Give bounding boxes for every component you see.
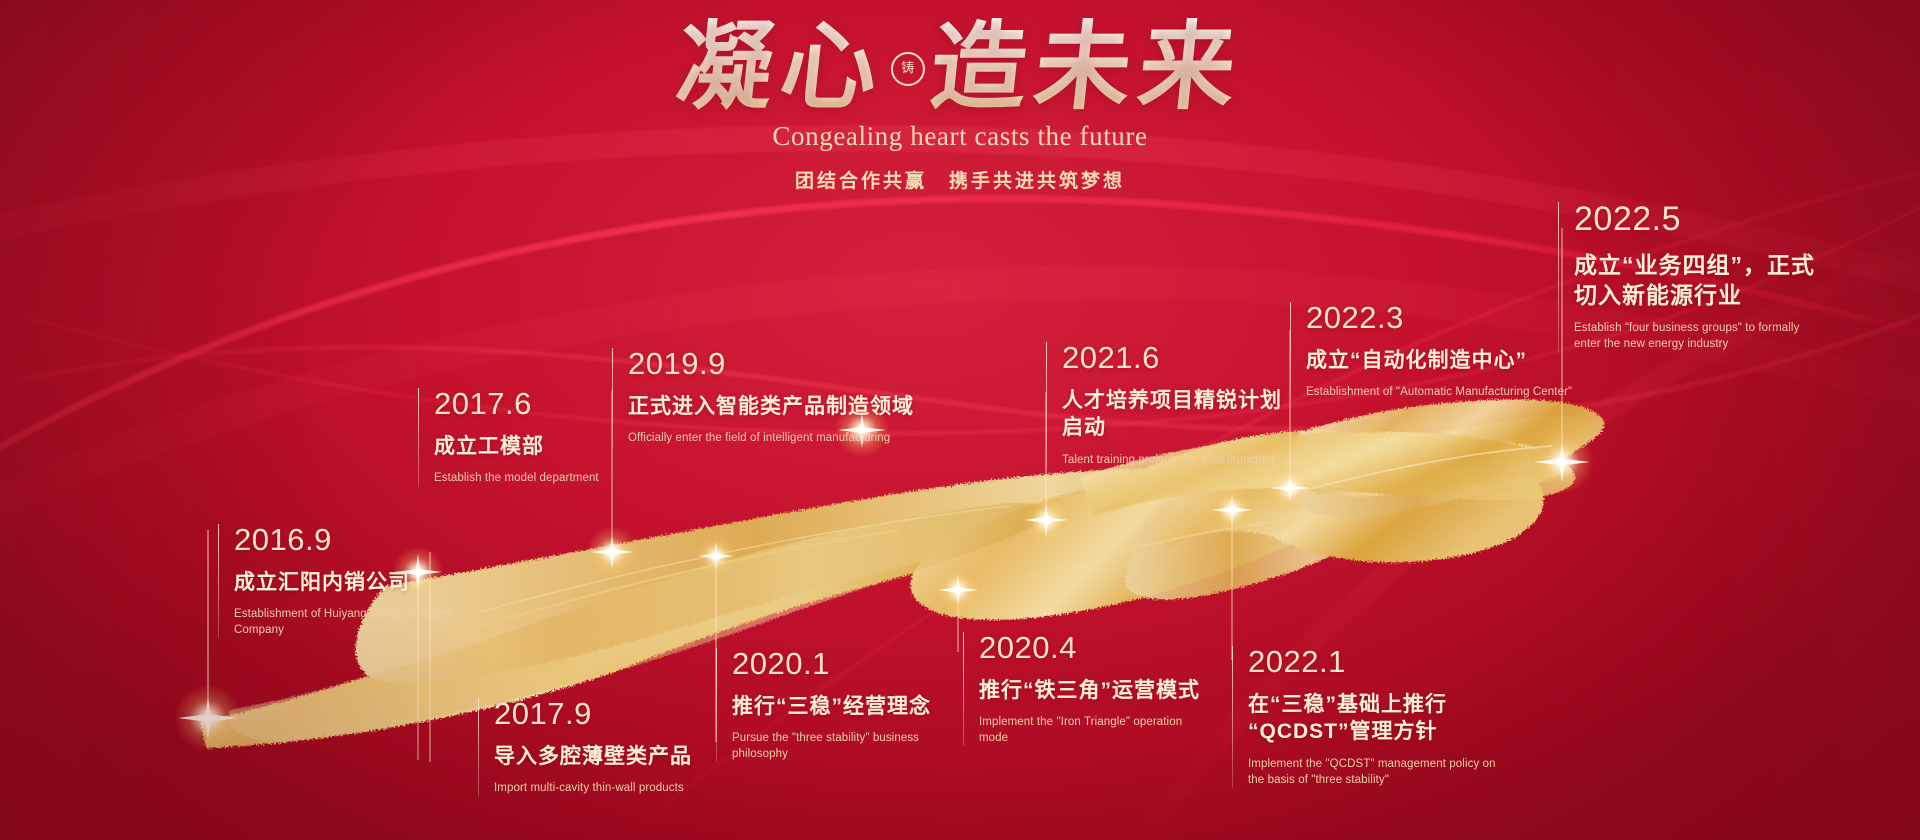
milestone-accent-bar — [218, 524, 219, 638]
milestone-2021-06[interactable]: 2021.6 人才培养项目精锐计划启动 Talent training proj… — [1046, 342, 1292, 469]
milestone-2019-09[interactable]: 2019.9 正式进入智能类产品制造领域 Officially enter th… — [612, 348, 948, 447]
milestone-year: 2016.9 — [234, 524, 464, 557]
milestone-title-cn: 在“三稳”基础上推行“QCDST”管理方针 — [1248, 691, 1513, 746]
milestone-accent-bar — [1290, 302, 1291, 401]
milestone-title-cn: 成立汇阳内销公司 — [234, 569, 464, 597]
milestone-2016-09[interactable]: 2016.9 成立汇阳内销公司 Establishment of Huiyang… — [218, 524, 464, 638]
milestone-accent-bar — [716, 648, 717, 762]
milestone-title-en: Import multi-cavity thin-wall products — [494, 781, 714, 797]
milestone-year: 2021.6 — [1062, 342, 1292, 375]
seal-stamp-icon: 铸 — [891, 52, 925, 86]
milestone-accent-bar — [1046, 342, 1047, 469]
milestone-accent-bar — [963, 632, 964, 746]
milestone-title-en: Establish "four business groups" to form… — [1574, 321, 1824, 352]
milestone-title-cn: 人才培养项目精锐计划启动 — [1062, 387, 1292, 442]
milestone-title-en: Establishment of "Automatic Manufacturin… — [1306, 385, 1576, 401]
milestone-year: 2020.4 — [979, 632, 1209, 665]
milestone-2020-04[interactable]: 2020.4 推行“铁三角”运营模式 Implement the "Iron T… — [963, 632, 1209, 746]
page-subtitle-en: Congealing heart casts the future — [0, 121, 1920, 152]
milestone-year: 2019.9 — [628, 348, 948, 381]
milestone-year: 2020.1 — [732, 648, 932, 681]
milestone-title-cn: 成立“业务四组”，正式切入新能源行业 — [1574, 250, 1824, 311]
milestone-title-en: Implement the "Iron Triangle" operation … — [979, 715, 1209, 746]
milestone-2022-01[interactable]: 2022.1 在“三稳”基础上推行“QCDST”管理方针 Implement t… — [1232, 646, 1513, 788]
page-subtitle-cn: 团结合作共赢 携手共进共筑梦想 — [0, 166, 1920, 193]
milestone-accent-bar — [1232, 646, 1233, 788]
poster-header: 凝心铸造未来 Congealing heart casts the future… — [0, 18, 1920, 193]
title-part-1: 凝心 — [671, 14, 890, 121]
milestone-accent-bar — [418, 388, 419, 487]
milestone-year: 2017.9 — [494, 698, 714, 731]
poster-canvas: 凝心铸造未来 Congealing heart casts the future… — [0, 0, 1920, 840]
milestone-title-en: Establish the model department — [434, 471, 654, 487]
milestone-2022-03[interactable]: 2022.3 成立“自动化制造中心” Establishment of "Aut… — [1290, 302, 1576, 401]
milestone-title-en: Implement the "QCDST" management policy … — [1248, 757, 1513, 788]
milestone-2017-09[interactable]: 2017.9 导入多腔薄壁类产品 Import multi-cavity thi… — [478, 698, 714, 797]
milestone-title-cn: 推行“三稳”经营理念 — [732, 693, 932, 721]
milestone-title-en: Establishment of Huiyang Domestic Sales … — [234, 607, 464, 638]
milestone-2020-01[interactable]: 2020.1 推行“三稳”经营理念 Pursue the "three stab… — [716, 648, 932, 762]
milestone-title-en: Officially enter the field of intelligen… — [628, 431, 948, 447]
milestone-accent-bar — [1558, 202, 1559, 352]
title-part-2: 造未来 — [925, 14, 1248, 121]
milestone-2022-05[interactable]: 2022.5 成立“业务四组”，正式切入新能源行业 Establish "fou… — [1558, 202, 1824, 352]
page-title: 凝心铸造未来 — [672, 18, 1249, 119]
milestone-title-cn: 成立“自动化制造中心” — [1306, 347, 1576, 375]
milestone-year: 2022.1 — [1248, 646, 1513, 679]
milestone-year: 2022.5 — [1574, 202, 1824, 238]
milestone-year: 2022.3 — [1306, 302, 1576, 335]
milestone-accent-bar — [478, 698, 479, 797]
milestone-accent-bar — [612, 348, 613, 447]
milestone-title-en: Pursue the "three stability" business ph… — [732, 731, 932, 762]
milestone-title-en: Talent training project elite plan launc… — [1062, 453, 1292, 469]
milestone-title-cn: 推行“铁三角”运营模式 — [979, 677, 1209, 705]
milestone-title-cn: 正式进入智能类产品制造领域 — [628, 393, 948, 421]
milestone-title-cn: 导入多腔薄壁类产品 — [494, 743, 714, 771]
